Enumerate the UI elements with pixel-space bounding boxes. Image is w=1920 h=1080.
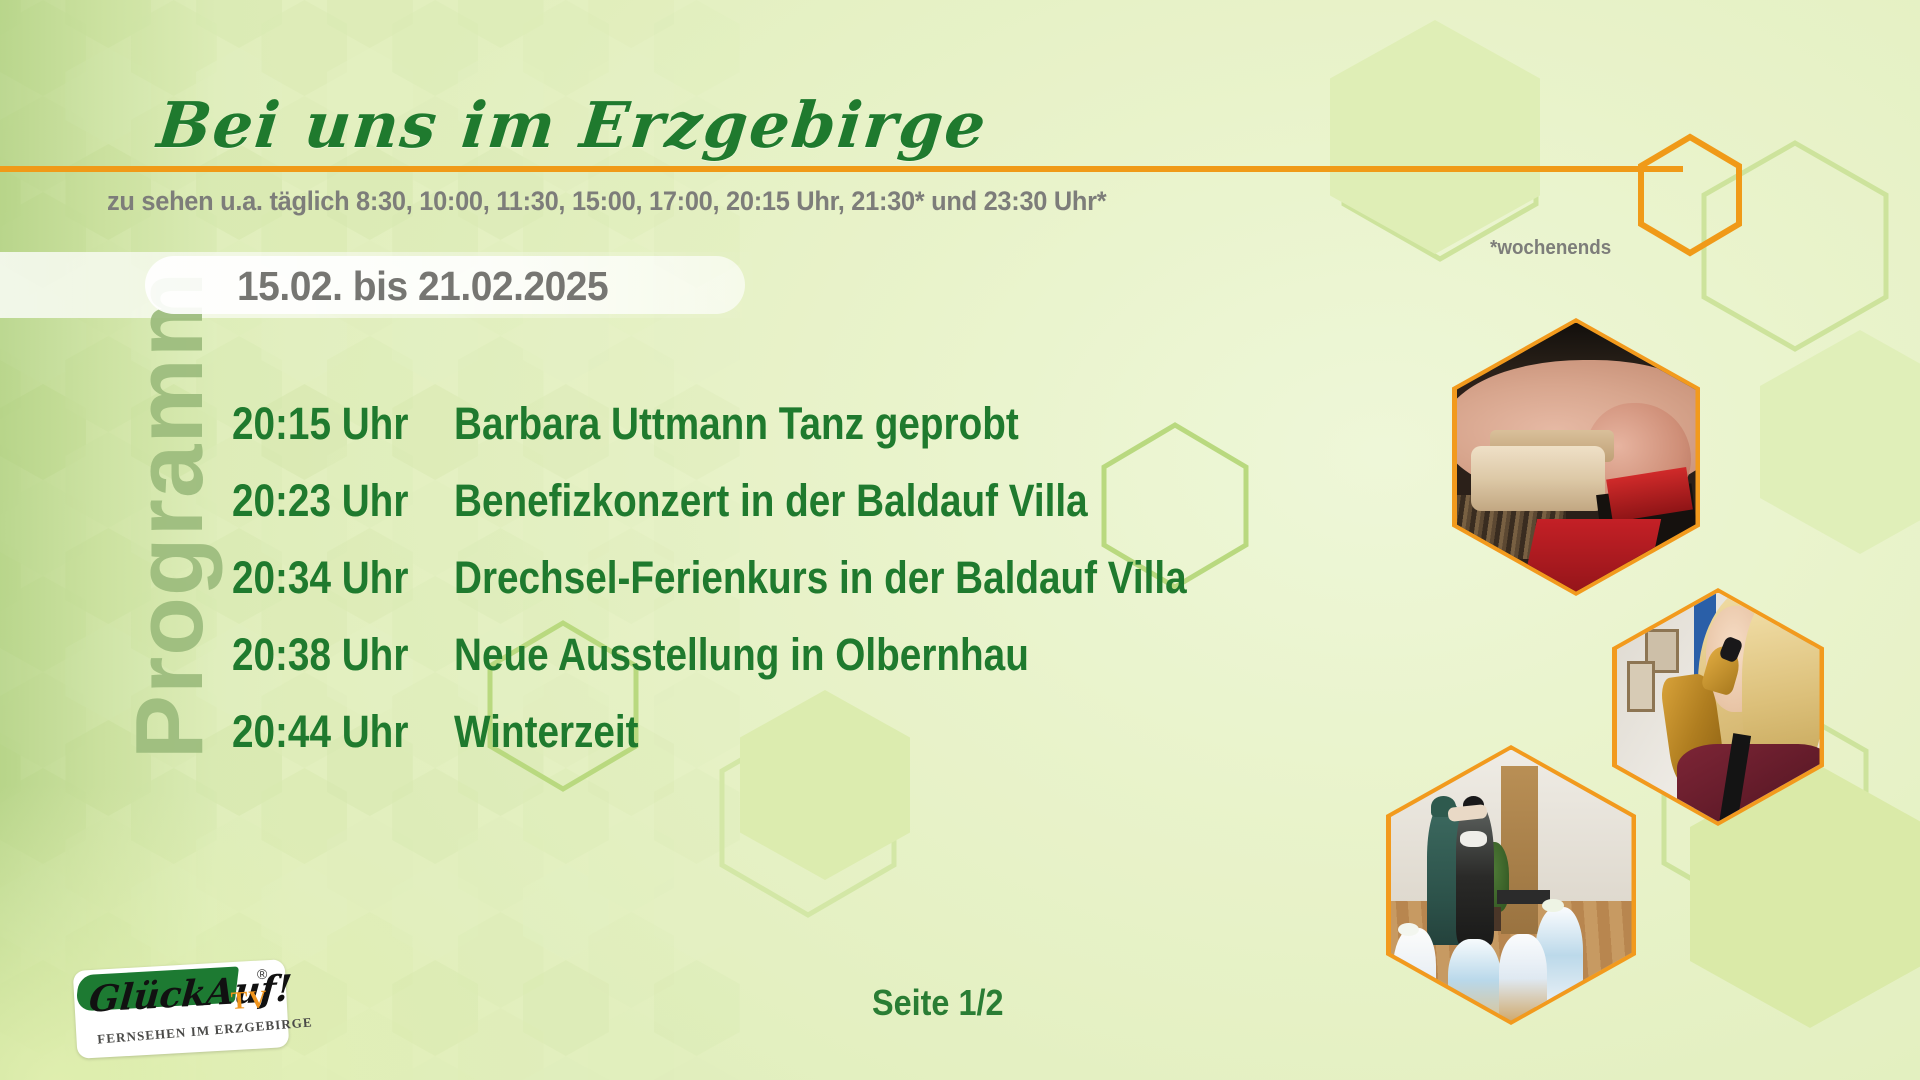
schedule-row-title: Neue Ausstellung in Olbernhau xyxy=(454,629,1029,681)
logo-tv-mark: TV xyxy=(230,986,268,1016)
schedule-row-title: Drechsel-Ferienkurs in der Baldauf Villa xyxy=(454,552,1187,604)
schedule-row-time: 20:15 Uhr xyxy=(232,398,423,450)
page-indicator: Seite 1/2 xyxy=(872,982,1003,1024)
schedule-row[interactable]: 20:15 UhrBarbara Uttmann Tanz geprobt xyxy=(232,398,1306,475)
schedule-row-time: 20:23 Uhr xyxy=(232,475,423,527)
header-divider-rule xyxy=(0,166,1683,172)
schedule-row[interactable]: 20:38 UhrNeue Ausstellung in Olbernhau xyxy=(232,629,1306,706)
schedule-row[interactable]: 20:23 UhrBenefizkonzert in der Baldauf V… xyxy=(232,475,1306,552)
schedule-row-time: 20:38 Uhr xyxy=(232,629,423,681)
photo-hexagon-saxophone xyxy=(1612,588,1824,826)
schedule-row-title: Benefizkonzert in der Baldauf Villa xyxy=(454,475,1088,527)
schedule-row-time: 20:34 Uhr xyxy=(232,552,423,604)
page-title: Bei uns im Erzgebirge xyxy=(154,88,991,162)
photo-hexagon-dancers xyxy=(1386,745,1636,1025)
weekend-footnote: *wochenends xyxy=(1490,237,1611,260)
schedule-row-time: 20:44 Uhr xyxy=(232,706,423,758)
schedule-row[interactable]: 20:34 UhrDrechsel-Ferienkurs in der Bald… xyxy=(232,552,1306,629)
broadcast-times: zu sehen u.a. täglich 8:30, 10:00, 11:30… xyxy=(107,186,1106,217)
header-end-hexagon-icon xyxy=(1635,133,1745,262)
date-range: 15.02. bis 21.02.2025 xyxy=(237,263,608,310)
logo-registered-icon: ® xyxy=(257,966,268,983)
glueckauf-tv-logo: GlückAuf! TV ® FERNSEHEN IM ERZGEBIRGE xyxy=(75,965,287,1053)
schedule-list: 20:15 UhrBarbara Uttmann Tanz geprobt20:… xyxy=(232,398,1306,783)
schedule-row[interactable]: 20:44 UhrWinterzeit xyxy=(232,706,1306,783)
schedule-row-title: Winterzeit xyxy=(454,706,639,758)
program-screen: Programm Bei uns im Erzgebirge zu sehen … xyxy=(0,0,1920,1080)
schedule-row-title: Barbara Uttmann Tanz geprobt xyxy=(454,398,1019,450)
photo-hexagon-wood-turning xyxy=(1452,318,1700,596)
